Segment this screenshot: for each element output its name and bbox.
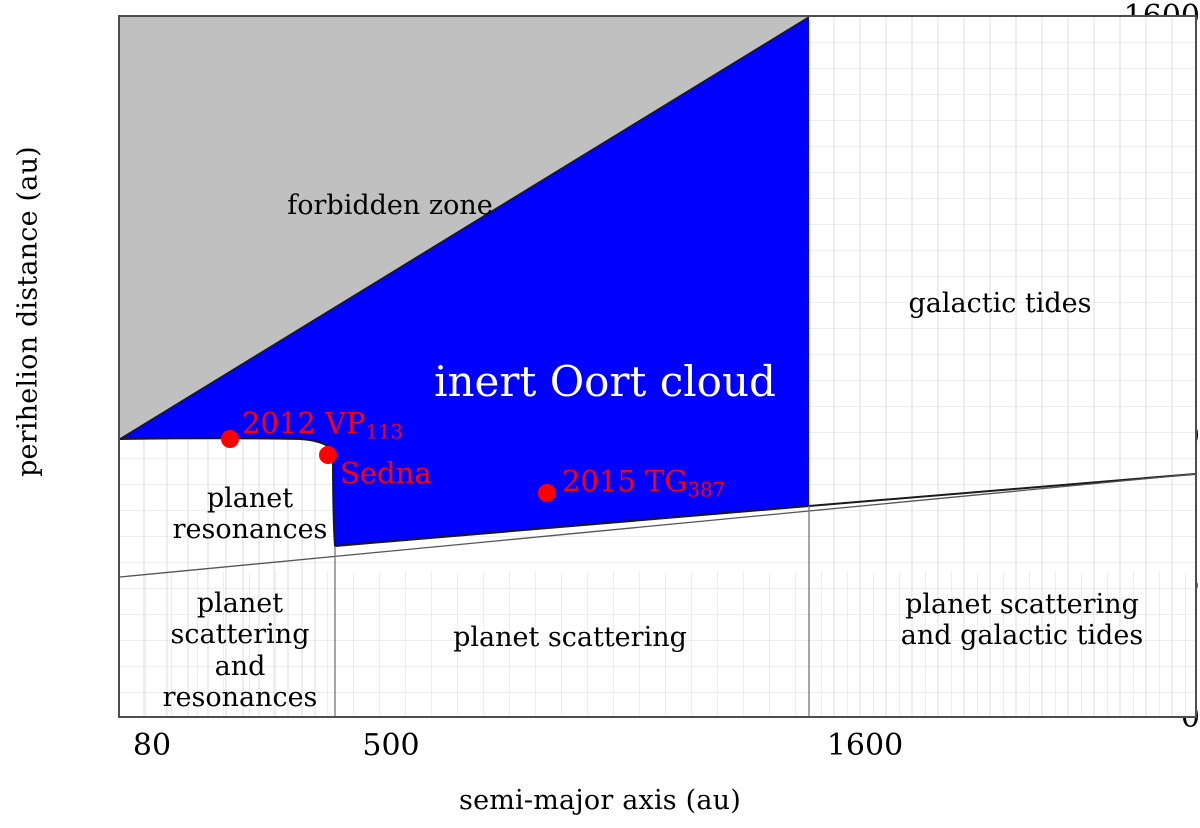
x-tick-80: 80 bbox=[92, 731, 212, 761]
plot-area: forbidden zone inert Oort cloud galactic… bbox=[118, 15, 1197, 718]
point-sedna[interactable] bbox=[319, 446, 337, 464]
x-tick-500: 500 bbox=[331, 731, 451, 761]
point-2015-tg387[interactable] bbox=[538, 484, 556, 502]
plot-svg bbox=[120, 17, 1195, 716]
point-2012-vp113[interactable] bbox=[221, 430, 239, 448]
lower-square-grid bbox=[120, 571, 1195, 716]
chart-figure: perihelion distance (au) 1600 80 45 0 80… bbox=[0, 0, 1200, 828]
x-tick-1600: 1600 bbox=[805, 731, 925, 761]
y-axis-label: perihelion distance (au) bbox=[13, 92, 44, 532]
x-axis-label: semi-major axis (au) bbox=[0, 785, 1200, 816]
